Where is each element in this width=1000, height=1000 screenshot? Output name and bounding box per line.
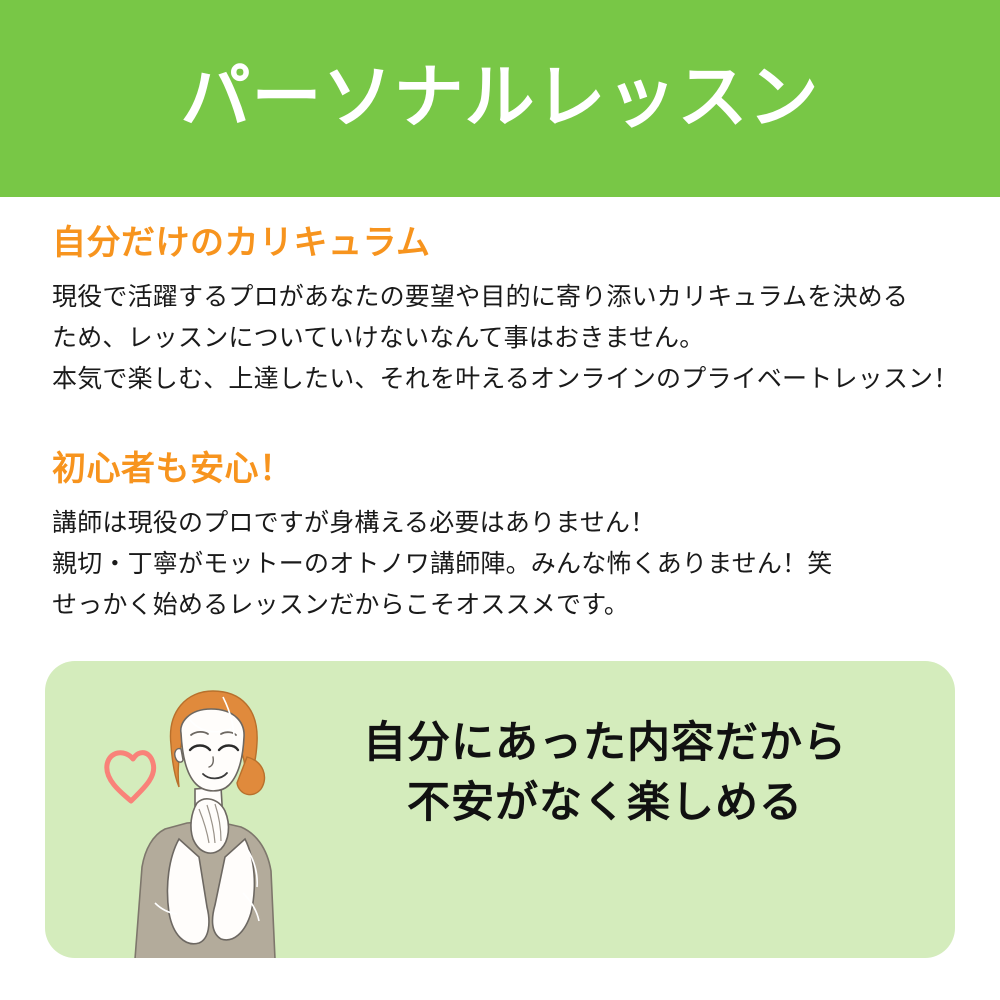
heart-icon (107, 753, 154, 801)
body-line: せっかく始めるレッスンだからこそオススメです。 (52, 585, 952, 626)
body-line: 本気で楽しむ、上達したい、それを叶えるオンラインのプライベートレッスン！ (52, 359, 952, 400)
section-heading-beginner: 初心者も安心！ (52, 450, 952, 489)
section-beginner: 初心者も安心！ 講師は現役のプロですが身構える必要はありません！ 親切・丁寧がモ… (52, 450, 952, 626)
body-line: 親切・丁寧がモットーのオトノワ講師陣。みんな怖くありません！笑 (52, 544, 952, 585)
highlight-card: 自分にあった内容だから 不安がなく楽しめる (45, 661, 955, 958)
highlight-line: 不安がなく楽しめる (295, 773, 915, 833)
content-area: 自分だけのカリキュラム 現役で活躍するプロがあなたの要望や目的に寄り添いカリキュ… (52, 224, 952, 626)
section-body-curriculum: 現役で活躍するプロがあなたの要望や目的に寄り添いカリキュラムを決める ため、レッ… (52, 277, 952, 400)
poster-page: パーソナルレッスン 自分だけのカリキュラム 現役で活躍するプロがあなたの要望や目… (0, 0, 1000, 1000)
section-body-beginner: 講師は現役のプロですが身構える必要はありません！ 親切・丁寧がモットーのオトノワ… (52, 503, 952, 626)
body-line: 現役で活躍するプロがあなたの要望や目的に寄り添いカリキュラムを決める (52, 277, 952, 318)
highlight-line: 自分にあった内容だから (295, 713, 915, 773)
section-curriculum: 自分だけのカリキュラム 現役で活躍するプロがあなたの要望や目的に寄り添いカリキュ… (52, 224, 952, 400)
highlight-message: 自分にあった内容だから 不安がなく楽しめる (295, 713, 915, 833)
header-banner: パーソナルレッスン (0, 0, 1000, 197)
body-line: 講師は現役のプロですが身構える必要はありません！ (52, 503, 952, 544)
page-title: パーソナルレッスン (181, 62, 820, 132)
section-heading-curriculum: 自分だけのカリキュラム (52, 224, 952, 263)
body-line: ため、レッスンについていけないなんて事はおきません。 (52, 318, 952, 359)
